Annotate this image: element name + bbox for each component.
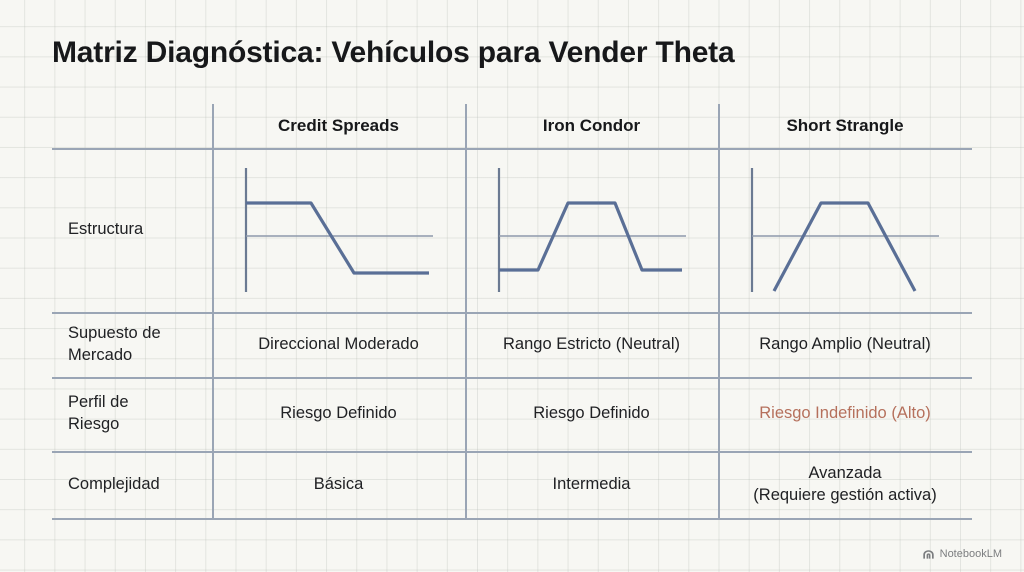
cell-supuesto-credit-spreads-text: Direccional Moderado [258,334,419,356]
cell-riesgo-credit-spreads-text: Riesgo Definido [280,403,396,425]
cell-riesgo-iron-condor: Riesgo Definido [465,377,718,451]
page-title: Matriz Diagnóstica: Vehículos para Vende… [52,36,734,70]
cell-complejidad-short-strangle-text: Avanzada (Requiere gestión activa) [753,463,936,507]
status-badge-riesgo-indefinido: Riesgo Indefinido (Alto) [759,403,931,425]
cell-estructura-short-strangle [718,148,972,312]
slide-canvas: Matriz Diagnóstica: Vehículos para Vende… [0,0,1024,572]
cell-riesgo-short-strangle: Riesgo Indefinido (Alto) [718,377,972,451]
row-label-supuesto-de-mercado-text: Supuesto de Mercado [68,323,161,367]
cell-complejidad-credit-spreads: Básica [212,451,465,518]
notebooklm-watermark: NotebookLM [922,548,1002,560]
credit-spread-payoff-diagram [233,160,445,300]
cell-estructura-credit-spreads [212,148,465,312]
cell-complejidad-iron-condor-text: Intermedia [553,474,631,496]
notebooklm-watermark-label: NotebookLM [940,548,1002,560]
short-strangle-payoff-diagram [739,160,951,300]
row-label-perfil-de-riesgo: Perfil de Riesgo [52,377,212,451]
column-header-iron-condor: Iron Condor [465,104,718,148]
cell-supuesto-iron-condor: Rango Estricto (Neutral) [465,312,718,377]
cell-riesgo-credit-spreads: Riesgo Definido [212,377,465,451]
cell-estructura-iron-condor [465,148,718,312]
row-label-estructura: Estructura [52,148,212,312]
column-header-short-strangle: Short Strangle [718,104,972,148]
cell-supuesto-credit-spreads: Direccional Moderado [212,312,465,377]
cell-supuesto-iron-condor-text: Rango Estricto (Neutral) [503,334,680,356]
diagnostic-matrix-table: Credit Spreads Iron Condor Short Strangl… [52,104,972,520]
cell-riesgo-iron-condor-text: Riesgo Definido [533,403,649,425]
row-label-complejidad-text: Complejidad [68,474,160,496]
column-header-credit-spreads: Credit Spreads [212,104,465,148]
row-label-perfil-de-riesgo-text: Perfil de Riesgo [68,392,129,436]
cell-complejidad-short-strangle: Avanzada (Requiere gestión activa) [718,451,972,518]
cell-complejidad-iron-condor: Intermedia [465,451,718,518]
cell-supuesto-short-strangle-text: Rango Amplio (Neutral) [759,334,931,356]
row-label-estructura-text: Estructura [68,219,143,241]
cell-supuesto-short-strangle: Rango Amplio (Neutral) [718,312,972,377]
row-label-supuesto-de-mercado: Supuesto de Mercado [52,312,212,377]
notebooklm-logo-icon [922,549,935,560]
table-rule-table-bottom [52,518,972,520]
cell-complejidad-credit-spreads-text: Básica [314,474,364,496]
iron-condor-payoff-diagram [486,160,698,300]
row-label-complejidad: Complejidad [52,451,212,518]
